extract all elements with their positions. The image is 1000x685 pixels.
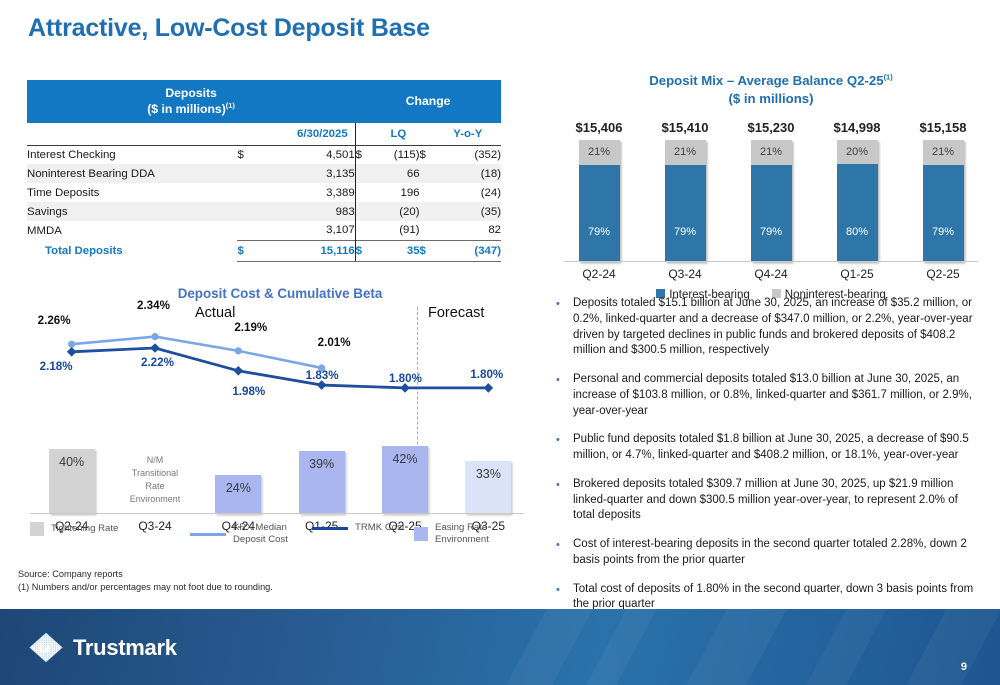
row-value: 3,107	[259, 221, 355, 240]
row-lq-currency: $	[355, 145, 377, 164]
row-lq: 66	[377, 164, 419, 183]
krx-value-label: 2.19%	[234, 321, 267, 334]
cost-legend-item: Easing Rate Environment	[414, 522, 510, 547]
bar-segment-noninterest: 21%	[665, 140, 706, 166]
trmk-data-point	[484, 383, 494, 393]
deposit-mix-column: $15,23021%79%	[740, 120, 802, 262]
trmk-value-label: 2.18%	[40, 360, 73, 373]
total-lq: 35	[377, 240, 419, 261]
subheader-yoy-currency	[420, 123, 442, 145]
deposit-mix-categories: Q2-24Q3-24Q4-24Q1-25Q2-25	[556, 267, 986, 281]
table-header-title: Deposits	[27, 85, 355, 101]
deposit-cost-lines	[30, 329, 530, 514]
deposit-mix-axis	[564, 261, 978, 262]
deposits-table-body: Interest Checking $ 4,501 $ (115) $ (352…	[27, 145, 501, 261]
table-total-row: Total Deposits $ 15,116 $ 35 $ (347)	[27, 240, 501, 261]
bullet-text: Deposits totaled $15.1 billion at June 3…	[573, 296, 976, 359]
page-title: Attractive, Low-Cost Deposit Base	[28, 14, 430, 43]
deposits-table: Deposits ($ in millions)(1) Change 6/30/…	[27, 80, 501, 262]
total-currency: $	[237, 240, 259, 261]
subheader-lq-currency	[355, 123, 377, 145]
deposit-cost-title: Deposit Cost & Cumulative Beta	[30, 286, 530, 301]
row-value: 3,389	[259, 183, 355, 202]
row-value: 3,135	[259, 164, 355, 183]
category-label: Q1-25	[826, 267, 888, 281]
footnote-marker: (1)	[226, 101, 235, 110]
nm-note-line: Transitional	[109, 467, 201, 480]
trmk-cost-line	[72, 348, 489, 388]
bar-segment-noninterest: 21%	[579, 140, 620, 166]
bar-segment-interest: 79%	[751, 165, 792, 261]
nm-note-line: Rate	[109, 480, 201, 493]
bar-segment-interest: 79%	[923, 165, 964, 261]
row-currency	[237, 221, 259, 240]
row-yoy: (18)	[442, 164, 501, 183]
footnote-marker: (1)	[884, 73, 893, 82]
legend-label: TRMK Cost	[355, 522, 405, 534]
row-lq: (115)	[377, 145, 419, 164]
legend-line-icon	[190, 533, 226, 536]
row-lq-currency	[355, 183, 377, 202]
brand-name: Trustmark	[73, 635, 177, 661]
beta-bar: 42%	[382, 446, 428, 514]
beta-bar: 39%	[299, 451, 345, 514]
row-label: Noninterest Bearing DDA	[27, 164, 237, 183]
stacked-bar: 21%79%	[579, 140, 620, 262]
deposit-cost-plot: N/MTransitionalRateEnvironment 40%24%39%…	[30, 329, 530, 514]
category-label: Q4-24	[740, 267, 802, 281]
cost-legend-item: Tightening Rate	[30, 522, 118, 536]
table-header-change: Change	[355, 80, 501, 123]
stacked-bar: 20%80%	[837, 140, 878, 262]
stacked-bar: 21%79%	[751, 140, 792, 262]
trmk-value-label: 1.98%	[232, 385, 265, 398]
total-label: Total Deposits	[27, 240, 237, 261]
krx-value-label: 2.34%	[137, 299, 170, 312]
trmk-value-label: 1.83%	[306, 369, 339, 382]
beta-bar: 40%	[49, 449, 95, 514]
footnotes: Source: Company reports (1) Numbers and/…	[18, 568, 273, 595]
bullet-dot-icon: •	[556, 477, 573, 524]
table-header-deposits: Deposits ($ in millions)(1)	[27, 80, 355, 123]
bar-segment-interest: 80%	[837, 164, 878, 262]
stacked-bar: 21%79%	[923, 140, 964, 262]
table-row: Savings 983 (20) (35)	[27, 202, 501, 221]
krx-median-line	[72, 337, 322, 368]
category-label: Q2-24	[568, 267, 630, 281]
total-yoy: (347)	[442, 240, 501, 261]
subheader-currency	[237, 123, 259, 145]
table-row: MMDA 3,107 (91) 82	[27, 221, 501, 240]
row-label: Savings	[27, 202, 237, 221]
bullet-text: Brokered deposits totaled $309.7 million…	[573, 477, 976, 524]
deposit-cost-axis	[30, 513, 524, 514]
row-lq-currency	[355, 202, 377, 221]
legend-label: Tightening Rate	[51, 523, 118, 535]
table-row: Interest Checking $ 4,501 $ (115) $ (352…	[27, 145, 501, 164]
bullet-item: •Cost of interest-bearing deposits in th…	[556, 537, 976, 569]
bullet-item: •Brokered deposits totaled $309.7 millio…	[556, 477, 976, 524]
row-lq-currency	[355, 164, 377, 183]
row-yoy-currency	[420, 164, 442, 183]
trmk-value-label: 1.80%	[470, 368, 503, 381]
section-label-forecast: Forecast	[428, 305, 484, 321]
bar-segment-noninterest: 20%	[837, 140, 878, 164]
row-value: 983	[259, 202, 355, 221]
subheader-yoy: Y-o-Y	[442, 123, 501, 145]
bar-segment-noninterest: 21%	[923, 140, 964, 166]
row-lq-currency	[355, 221, 377, 240]
row-currency: $	[237, 145, 259, 164]
legend-swatch-icon	[414, 527, 428, 541]
slide-footer: Trustmark 9	[0, 609, 1000, 685]
krx-data-point	[68, 341, 75, 348]
row-value: 4,501	[259, 145, 355, 164]
row-yoy-currency: $	[420, 145, 442, 164]
trmk-value-label: 1.80%	[389, 372, 422, 385]
beta-bar: 24%	[215, 475, 261, 514]
brand-logo: Trustmark	[28, 631, 177, 664]
cost-legend-item: TRMK Cost	[312, 522, 405, 534]
bar-total-label: $15,406	[576, 120, 623, 135]
bullet-item: •Deposits totaled $15.1 billion at June …	[556, 296, 976, 359]
table-row: Noninterest Bearing DDA 3,135 66 (18)	[27, 164, 501, 183]
krx-value-label: 2.01%	[318, 336, 351, 349]
deposit-mix-column: $14,99820%80%	[826, 120, 888, 262]
row-label: MMDA	[27, 221, 237, 240]
legend-line-icon	[312, 527, 348, 530]
deposit-mix-subtitle: ($ in millions)	[556, 90, 986, 108]
row-label: Interest Checking	[27, 145, 237, 164]
bar-segment-interest: 79%	[579, 165, 620, 261]
trmk-value-label: 2.22%	[141, 356, 174, 369]
row-yoy-currency	[420, 221, 442, 240]
row-yoy: (24)	[442, 183, 501, 202]
trmk-data-point	[234, 366, 244, 376]
total-value: 15,116	[259, 240, 355, 261]
deposit-mix-chart: Deposit Mix – Average Balance Q2-25(1) (…	[556, 72, 986, 287]
bar-total-label: $15,410	[662, 120, 709, 135]
category-label: Q2-25	[912, 267, 974, 281]
total-lq-currency: $	[355, 240, 377, 261]
nm-note-line: N/M	[109, 454, 201, 467]
table-row: Time Deposits 3,389 196 (24)	[27, 183, 501, 202]
page-number: 9	[961, 661, 967, 673]
bullet-item: •Personal and commercial deposits totale…	[556, 372, 976, 419]
row-yoy-currency	[420, 183, 442, 202]
deposit-mix-plot: $15,40621%79%$15,41021%79%$15,23021%79%$…	[556, 122, 986, 262]
row-label: Time Deposits	[27, 183, 237, 202]
total-yoy-currency: $	[420, 240, 442, 261]
section-label-actual: Actual	[195, 305, 235, 321]
stacked-bar: 21%79%	[665, 140, 706, 262]
krx-data-point	[151, 333, 158, 340]
subheader-date: 6/30/2025	[259, 123, 355, 145]
bullet-dot-icon: •	[556, 296, 573, 359]
row-lq: (91)	[377, 221, 419, 240]
row-lq: 196	[377, 183, 419, 202]
nm-note-line: Environment	[109, 493, 201, 506]
row-currency	[237, 202, 259, 221]
bullet-dot-icon: •	[556, 432, 573, 464]
deposit-mix-column: $15,40621%79%	[568, 120, 630, 262]
bar-total-label: $15,230	[748, 120, 795, 135]
bullet-dot-icon: •	[556, 372, 573, 419]
subheader-blank	[27, 123, 237, 145]
deposit-mix-column: $15,41021%79%	[654, 120, 716, 262]
deposit-mix-title: Deposit Mix – Average Balance Q2-25(1) (…	[556, 72, 986, 108]
row-currency	[237, 164, 259, 183]
bullet-text: Personal and commercial deposits totaled…	[573, 372, 976, 419]
bullet-item: •Public fund deposits totaled $1.8 billi…	[556, 432, 976, 464]
row-yoy-currency	[420, 202, 442, 221]
row-yoy: (352)	[442, 145, 501, 164]
cost-legend-item: KRX Median Deposit Cost	[190, 522, 311, 547]
krx-data-point	[235, 347, 242, 354]
legend-label: Easing Rate Environment	[435, 522, 510, 547]
beta-bar: 33%	[465, 461, 511, 514]
category-label: Q3-24	[654, 267, 716, 281]
trmk-data-point	[67, 347, 77, 357]
legend-swatch-icon	[30, 522, 44, 536]
trmk-data-point	[150, 343, 160, 353]
deposit-mix-column: $15,15821%79%	[912, 120, 974, 262]
row-lq: (20)	[377, 202, 419, 221]
deposit-cost-sections: Actual Forecast	[30, 305, 530, 325]
bar-total-label: $15,158	[920, 120, 967, 135]
bar-segment-interest: 79%	[665, 165, 706, 261]
footnote-rounding: (1) Numbers and/or percentages may not f…	[18, 581, 273, 594]
row-yoy: (35)	[442, 202, 501, 221]
row-yoy: 82	[442, 221, 501, 240]
footnote-source: Source: Company reports	[18, 568, 273, 581]
krx-value-label: 2.26%	[38, 314, 71, 327]
trustmark-diamond-icon	[28, 631, 64, 664]
deposit-cost-legend: Tightening RateKRX Median Deposit CostTR…	[30, 516, 510, 556]
bullet-text: Cost of interest-bearing deposits in the…	[573, 537, 976, 569]
bullet-dot-icon: •	[556, 537, 573, 569]
bullet-list: •Deposits totaled $15.1 billion at June …	[556, 296, 976, 626]
deposit-mix-title-text: Deposit Mix – Average Balance Q2-25	[649, 73, 883, 88]
legend-label: KRX Median Deposit Cost	[233, 522, 311, 547]
table-header-units: ($ in millions)(1)	[27, 101, 355, 118]
nm-transitional-note: N/MTransitionalRateEnvironment	[109, 454, 201, 506]
bullet-text: Public fund deposits totaled $1.8 billio…	[573, 432, 976, 464]
bar-segment-noninterest: 21%	[751, 140, 792, 166]
subheader-lq: LQ	[377, 123, 419, 145]
row-currency	[237, 183, 259, 202]
bar-total-label: $14,998	[834, 120, 881, 135]
